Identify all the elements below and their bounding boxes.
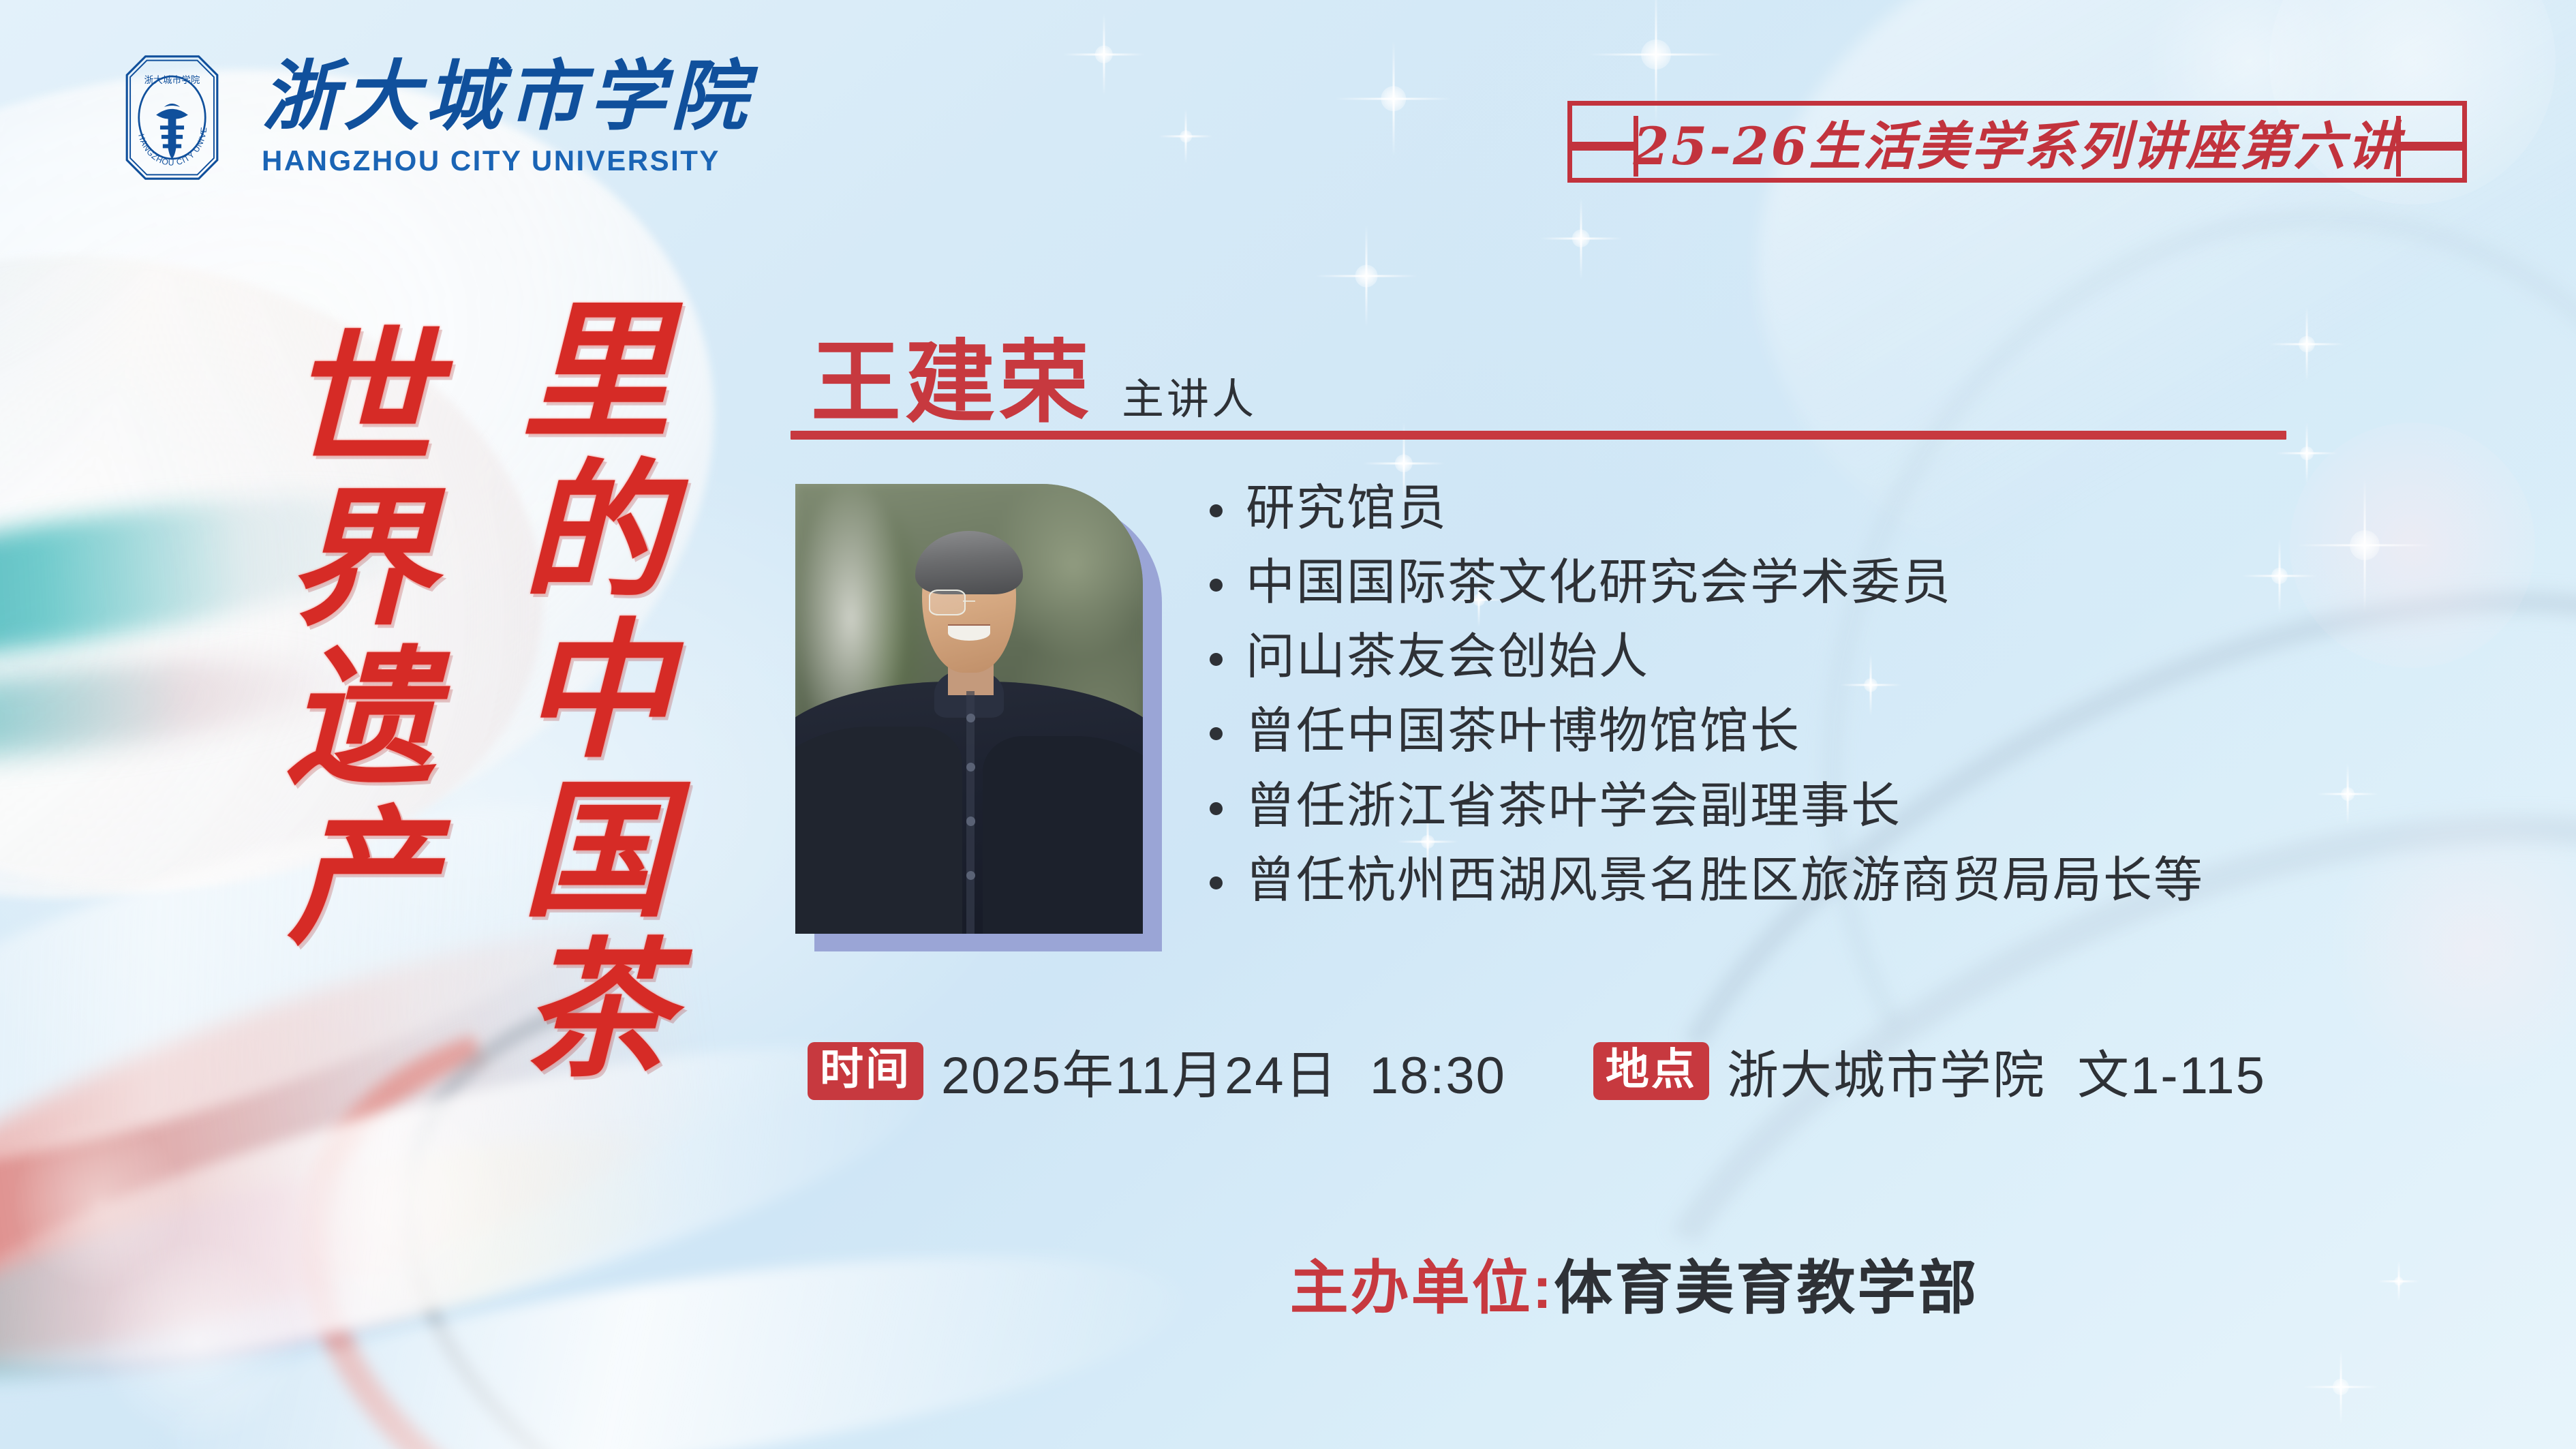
sparkle-icon	[1063, 14, 1145, 95]
logo-name-cn: 浙大城市学院	[262, 59, 752, 135]
bullet-dot-icon	[1210, 504, 1223, 517]
list-item: 研究馆员	[1210, 477, 2539, 540]
sparkle-icon	[2303, 1349, 2378, 1424]
logo-text-block: 浙大城市学院 HANGZHOU CITY UNIVERSITY	[262, 59, 752, 177]
sparkle-icon	[1540, 198, 1622, 279]
bullet-dot-icon	[1210, 653, 1223, 666]
list-item: 问山茶友会创始人	[1210, 626, 2539, 688]
organizer-line: 主办单位:体育美育教学部	[1216, 1172, 1978, 1392]
sparkle-icon	[1159, 109, 1213, 164]
poster-title-column-right: 里的中国茶	[508, 293, 659, 1090]
credential-text: 曾任浙江省茶叶学会副理事长	[1246, 775, 1901, 838]
sparkle-icon	[1315, 225, 1417, 327]
bullet-dot-icon	[1210, 727, 1223, 740]
speaker-role: 主讲人	[1122, 365, 1257, 426]
university-crest-icon: 浙大城市学院 HANGZHOU CITY UNIVERSITY	[106, 51, 239, 184]
time-label-badge: 时间	[808, 1042, 923, 1100]
organizer-label: 主办单位:	[1290, 1255, 1554, 1321]
bokeh-circle-6	[14, 1118, 184, 1288]
bullet-dot-icon	[1210, 876, 1223, 889]
speaker-header: 王建荣 主讲人	[811, 310, 1257, 440]
header-divider	[791, 431, 2286, 440]
speaker-photo-container	[795, 484, 1156, 947]
svg-text:HANGZHOU CITY UNIVERSITY: HANGZHOU CITY UNIVERSITY	[106, 51, 209, 168]
time-value: 2025年11月24日 18:30	[941, 1033, 1506, 1108]
credential-text: 问山茶友会创始人	[1246, 626, 1649, 688]
svg-text:浙大城市学院: 浙大城市学院	[144, 74, 200, 86]
banner-title-text: 25-26生活美学系列讲座第六讲	[1567, 104, 2467, 179]
speaker-name: 王建荣	[811, 310, 1093, 440]
poster-canvas: 浙大城市学院 HANGZHOU CITY UNIVERSITY 浙大城市学院 H…	[0, 0, 2576, 1449]
bullet-dot-icon	[1210, 579, 1223, 592]
university-logo: 浙大城市学院 HANGZHOU CITY UNIVERSITY 浙大城市学院 H…	[106, 51, 752, 184]
credential-text: 中国国际茶文化研究会学术委员	[1246, 551, 1952, 614]
event-info-row: 时间 2025年11月24日 18:30 地点 浙大城市学院 文1-115	[808, 1033, 2266, 1108]
list-item: 曾任浙江省茶叶学会副理事长	[1210, 775, 2539, 838]
organizer-value: 体育美育教学部	[1554, 1255, 1978, 1321]
iridescent-band	[0, 1084, 743, 1431]
white-swoosh-2	[156, 1211, 1193, 1449]
bullet-dot-icon	[1210, 802, 1223, 815]
sparkle-icon	[2378, 1261, 2419, 1302]
series-banner: 25-26生活美学系列讲座第六讲	[1567, 101, 2467, 183]
credential-text: 曾任中国茶叶博物馆馆长	[1246, 700, 1800, 763]
list-item: 曾任中国茶叶博物馆馆长	[1210, 700, 2539, 763]
place-label-badge: 地点	[1593, 1042, 1709, 1100]
place-value: 浙大城市学院 文1-115	[1727, 1033, 2266, 1108]
poster-title-column-left: 世界遗产	[273, 320, 424, 958]
bokeh-circle-5	[95, 1240, 300, 1445]
logo-name-en: HANGZHOU CITY UNIVERSITY	[262, 144, 752, 177]
list-item: 中国国际茶文化研究会学术委员	[1210, 551, 2539, 614]
speaker-credentials-list: 研究馆员 中国国际茶文化研究会学术委员 问山茶友会创始人 曾任中国茶叶博物馆馆长…	[1210, 477, 2539, 924]
list-item: 曾任杭州西湖风景名胜区旅游商贸局局长等	[1210, 849, 2539, 912]
sparkle-icon	[1336, 41, 1452, 157]
speaker-photo	[795, 484, 1143, 934]
credential-text: 研究馆员	[1246, 477, 1447, 540]
silver-arc	[305, 865, 1338, 1449]
pink-arc	[214, 904, 1233, 1449]
bokeh-circle-7	[286, 1090, 511, 1315]
sparkle-icon	[2269, 307, 2344, 382]
credential-text: 曾任杭州西湖风景名胜区旅游商贸局局长等	[1246, 849, 2204, 912]
